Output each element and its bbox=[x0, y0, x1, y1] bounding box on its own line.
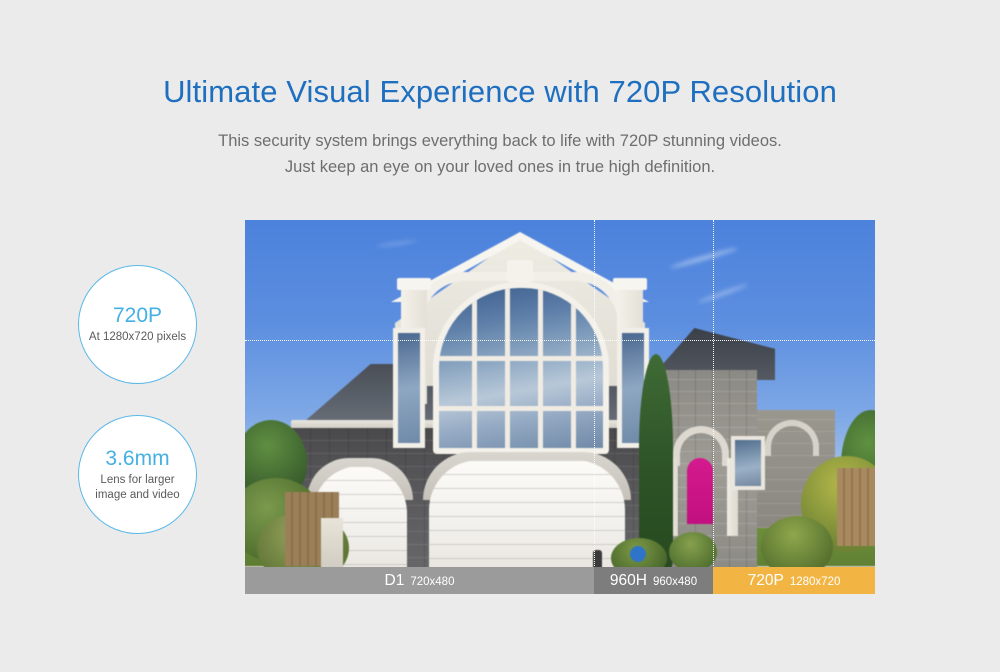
gable-side-window-left bbox=[393, 328, 425, 448]
label-720p-dimensions: 1280x720 bbox=[790, 569, 841, 594]
comparison-label-bar: D1 720x480 960H 960x480 720P 1280x720 bbox=[245, 567, 875, 594]
label-960h-name: 960H bbox=[610, 567, 647, 594]
guide-line-vertical-d1 bbox=[594, 220, 595, 594]
badge-resolution-title: 720P bbox=[113, 304, 162, 328]
badge-lens: 3.6mm Lens for larger image and video bbox=[78, 415, 197, 534]
shrub bbox=[669, 532, 717, 572]
label-d1-dimensions: 720x480 bbox=[410, 569, 454, 594]
driveway-pillar bbox=[321, 518, 343, 574]
window-mullion bbox=[439, 356, 603, 361]
window-mullion bbox=[538, 288, 543, 448]
badge-resolution: 720P At 1280x720 pixels bbox=[78, 265, 197, 384]
label-segment-d1: D1 720x480 bbox=[245, 567, 594, 594]
entry-side-window bbox=[731, 436, 765, 490]
label-segment-720p: 720P 1280x720 bbox=[713, 567, 875, 594]
window-mullion bbox=[472, 288, 477, 448]
fence-right bbox=[837, 468, 875, 546]
label-960h-dimensions: 960x480 bbox=[653, 569, 697, 594]
page-subtitle: This security system brings everything b… bbox=[0, 128, 1000, 180]
pilaster-cap-left bbox=[397, 278, 431, 290]
yard-sign bbox=[630, 546, 646, 562]
subtitle-line-1: This security system brings everything b… bbox=[0, 128, 1000, 154]
pilaster-cap-right bbox=[613, 278, 647, 290]
label-720p-name: 720P bbox=[748, 567, 784, 594]
guide-line-vertical-960h bbox=[713, 220, 714, 594]
subtitle-line-2: Just keep an eye on your loved ones in t… bbox=[0, 154, 1000, 180]
gable-keystone bbox=[507, 260, 533, 282]
page-title: Ultimate Visual Experience with 720P Res… bbox=[0, 72, 1000, 112]
label-d1-name: D1 bbox=[385, 567, 405, 594]
resolution-comparison-photo: D1 720x480 960H 960x480 720P 1280x720 bbox=[245, 220, 875, 594]
window-mullion bbox=[505, 288, 510, 448]
badge-lens-subtitle-1: Lens for larger bbox=[94, 473, 180, 488]
badge-resolution-subtitle: At 1280x720 pixels bbox=[83, 330, 192, 345]
house-photo-scene bbox=[245, 220, 875, 594]
window-mullion bbox=[439, 406, 603, 411]
badge-lens-title: 3.6mm bbox=[105, 447, 169, 471]
arched-picture-window bbox=[433, 282, 609, 454]
front-door bbox=[687, 458, 713, 524]
guide-line-horizontal bbox=[245, 340, 875, 341]
header: Ultimate Visual Experience with 720P Res… bbox=[0, 0, 1000, 180]
badge-lens-subtitle-2: image and video bbox=[89, 488, 185, 503]
label-segment-960h: 960H 960x480 bbox=[594, 567, 713, 594]
window-mullion bbox=[571, 288, 576, 448]
